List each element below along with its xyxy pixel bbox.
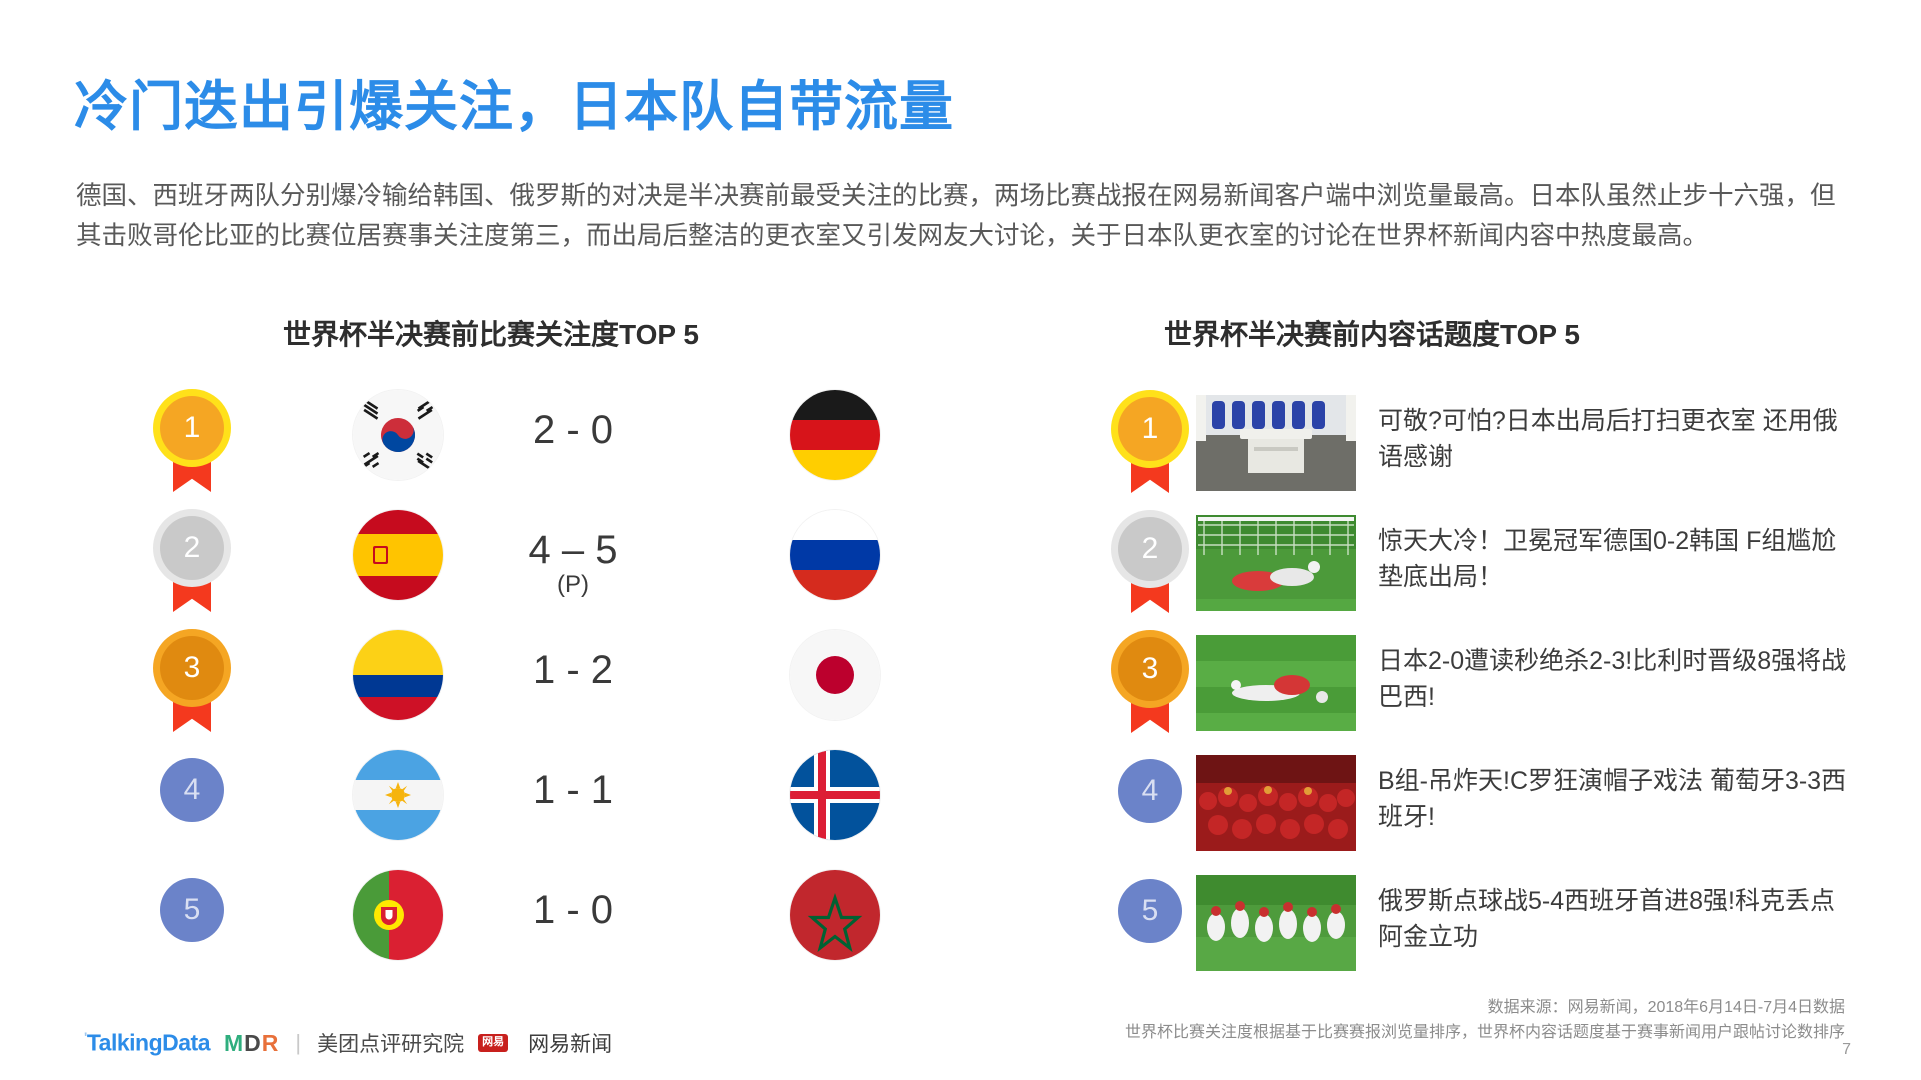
flag-germany-icon <box>790 390 880 480</box>
rank-circle: 5 <box>160 878 224 942</box>
page-title: 冷门迭出引爆关注，日本队自带流量 <box>74 62 954 141</box>
news-rank-badge-2: 2 <box>1110 517 1190 613</box>
match-rank-badge-5: 5 <box>152 876 232 972</box>
logo-divider: | <box>295 1030 301 1056</box>
left-panel-heading: 世界杯半决赛前比赛关注度TOP 5 <box>283 313 699 353</box>
flag-colombia-icon <box>353 630 443 720</box>
lede-paragraph: 德国、西班牙两队分别爆冷输给韩国、俄罗斯的对决是半决赛前最受关注的比赛，两场比赛… <box>76 176 1856 256</box>
flag-russia-icon <box>790 510 880 600</box>
flag-spain-icon <box>353 510 443 600</box>
flag-morocco-icon <box>790 870 880 960</box>
penalty-note: (P) <box>463 571 683 599</box>
news-headline[interactable]: 俄罗斯点球战5-4西班牙首进8强!科克丢点阿金立功 <box>1378 883 1848 955</box>
match-score: 4 – 5(P) <box>463 528 683 599</box>
medal-icon: 3 <box>160 636 224 700</box>
news-rank-badge-1: 1 <box>1110 397 1190 493</box>
medal-icon: 3 <box>1118 637 1182 701</box>
footer-logos: 'TalkingData MDR | 美团点评研究院 网易 网易新闻 <box>84 1028 612 1058</box>
news-rank-badge-5: 5 <box>1110 877 1190 973</box>
flag-argentina-icon <box>353 750 443 840</box>
news-rank-badge-4: 4 <box>1110 757 1190 853</box>
match-rank-badge-2: 2 <box>152 516 232 612</box>
flag-portugal-icon <box>353 870 443 960</box>
match-rank-badge-4: 4 <box>152 756 232 852</box>
match-score: 1 - 0 <box>463 888 683 933</box>
slide-root: 冷门迭出引爆关注，日本队自带流量 德国、西班牙两队分别爆冷输给韩国、俄罗斯的对决… <box>0 0 1921 1080</box>
match-rank-badge-3: 3 <box>152 636 232 732</box>
news-headline[interactable]: 日本2-0遭读秒绝杀2-3!比利时晋级8强将战巴西! <box>1378 643 1848 715</box>
news-headline[interactable]: 惊天大冷！卫冕冠军德国0-2韩国 F组尴尬垫底出局！ <box>1378 523 1848 595</box>
rank-circle: 4 <box>1118 759 1182 823</box>
news-thumbnail-pitch-tackle-photo[interactable] <box>1196 635 1356 731</box>
news-rank-badge-3: 3 <box>1110 637 1190 733</box>
news-thumbnail-goalmouth-photo[interactable] <box>1196 515 1356 611</box>
right-panel-heading: 世界杯半决赛前内容话题度TOP 5 <box>1164 313 1580 353</box>
netease-news-logo: 网易新闻 <box>528 1028 612 1058</box>
meituan-research-logo: 美团点评研究院 <box>317 1028 464 1058</box>
rank-circle: 4 <box>160 758 224 822</box>
news-thumbnail-celebration-photo[interactable] <box>1196 875 1356 971</box>
page-number: 7 <box>1842 1041 1851 1059</box>
rank-circle: 5 <box>1118 879 1182 943</box>
news-headline[interactable]: 可敬?可怕?日本出局后打扫更衣室 还用俄语感谢 <box>1378 403 1848 475</box>
flag-south-korea-icon <box>353 390 443 480</box>
match-score: 1 - 1 <box>463 768 683 813</box>
flag-japan-icon <box>790 630 880 720</box>
mdr-logo: MDR <box>224 1030 279 1057</box>
netease-mark-icon: 网易 <box>478 1034 508 1052</box>
source-line-2: 世界杯比赛关注度根据基于比赛赛报浏览量排序，世界杯内容话题度基于赛事新闻用户跟帖… <box>1125 1020 1845 1045</box>
medal-icon: 1 <box>1118 397 1182 461</box>
match-rank-badge-1: 1 <box>152 396 232 492</box>
talkingdata-logo: 'TalkingData <box>84 1029 210 1057</box>
medal-icon: 2 <box>1118 517 1182 581</box>
match-score: 2 - 0 <box>463 408 683 453</box>
flag-iceland-icon <box>790 750 880 840</box>
match-score: 1 - 2 <box>463 648 683 693</box>
medal-icon: 1 <box>160 396 224 460</box>
news-thumbnail-red-crowd-photo[interactable] <box>1196 755 1356 851</box>
news-thumbnail-locker-room-photo[interactable] <box>1196 395 1356 491</box>
source-line-1: 数据来源：网易新闻，2018年6月14日-7月4日数据 <box>1125 995 1845 1020</box>
medal-icon: 2 <box>160 516 224 580</box>
news-headline[interactable]: B组-吊炸天!C罗狂演帽子戏法 葡萄牙3-3西班牙! <box>1378 763 1848 835</box>
source-note: 数据来源：网易新闻，2018年6月14日-7月4日数据 世界杯比赛关注度根据基于… <box>1125 995 1845 1045</box>
